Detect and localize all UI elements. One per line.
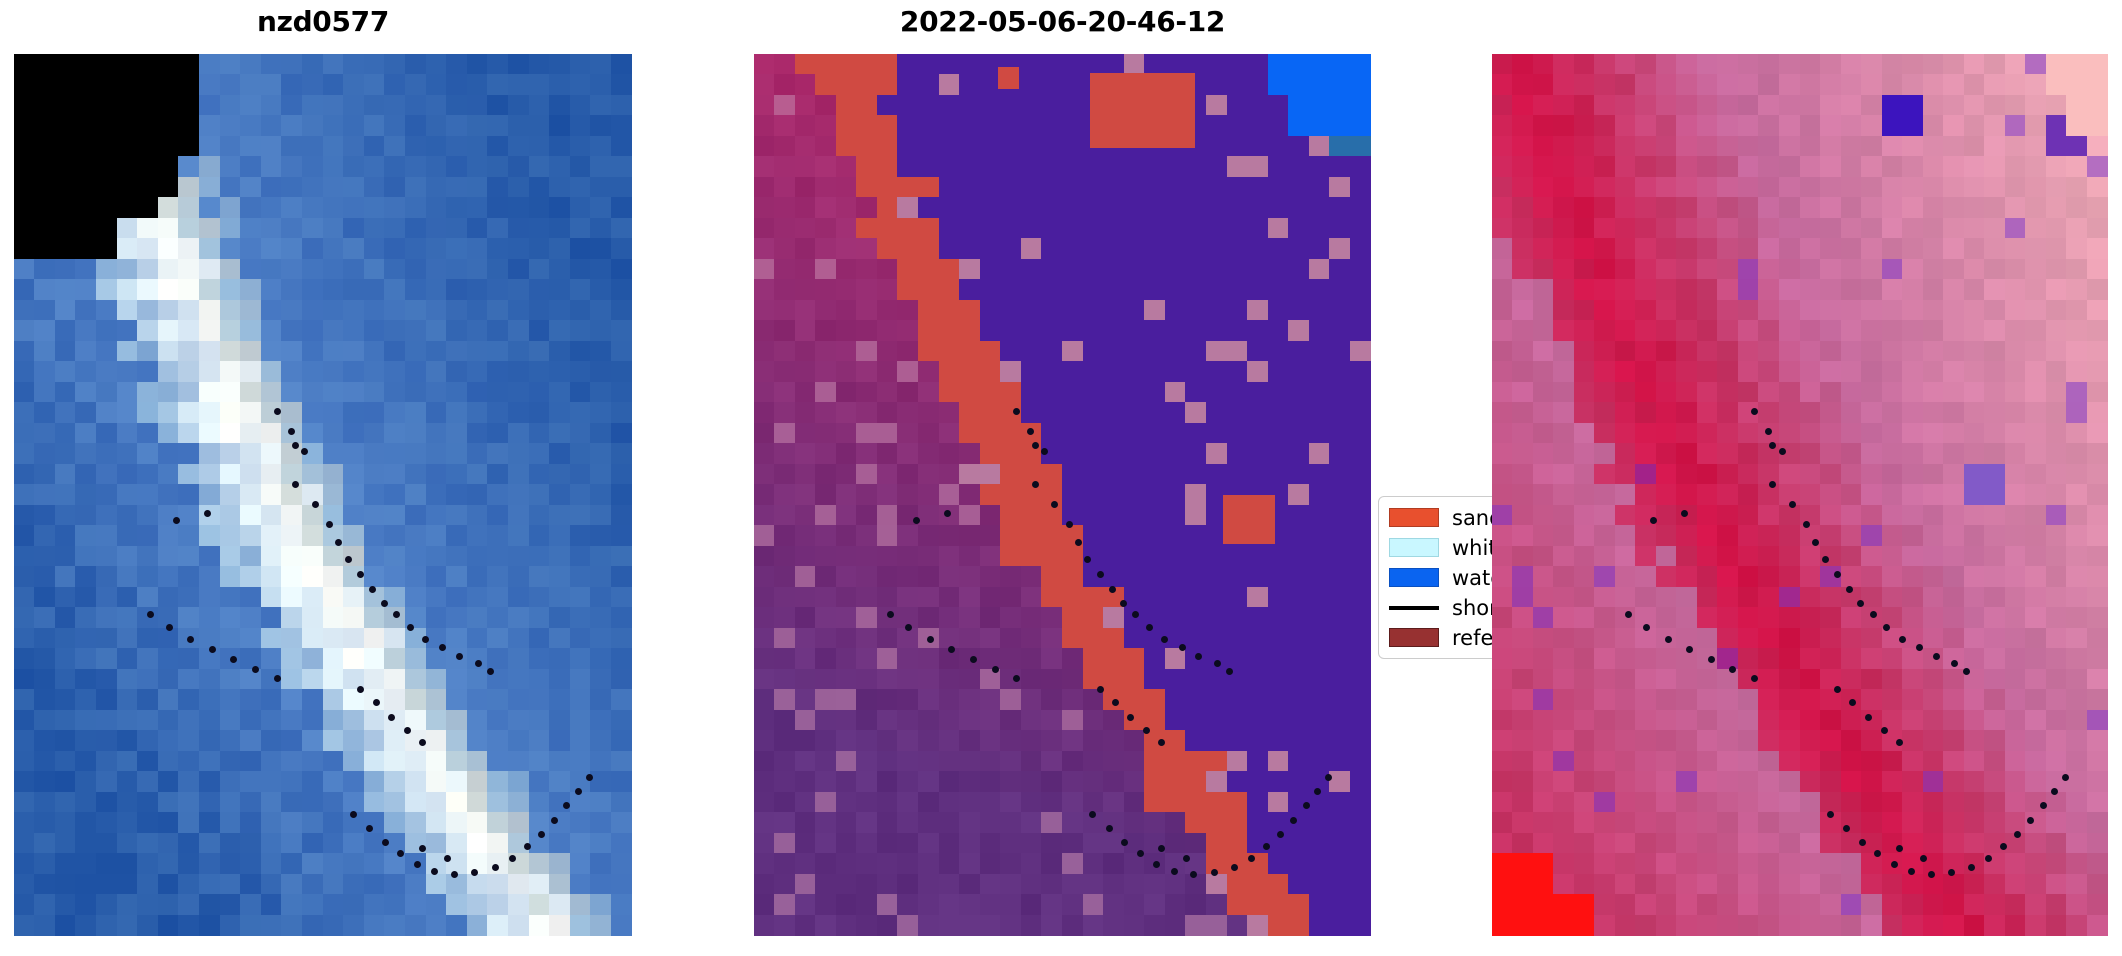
raster-cell [1574,279,1596,301]
raster-cell [856,833,878,855]
raster-cell [980,423,1002,445]
raster-cell [281,505,303,527]
raster-cell [323,95,345,117]
raster-cell [2087,177,2108,199]
raster-cell [1206,812,1228,834]
raster-cell [1656,484,1678,506]
raster-cell [158,566,180,588]
raster-cell [570,136,592,158]
raster-cell [918,894,940,916]
raster-cell [1676,382,1698,404]
raster-cell [1943,177,1965,199]
raster-cell [446,177,468,199]
raster-cell [2046,853,2068,875]
raster-cell [240,361,262,383]
raster-cell [1083,156,1105,178]
raster-cell [570,566,592,588]
raster-cell [96,874,118,896]
raster-cell [1268,156,1290,178]
raster-cell [1656,525,1678,547]
raster-cell [1206,587,1228,609]
raster-cell [590,587,612,609]
raster-cell [918,197,940,219]
raster-cell [1697,874,1719,896]
raster-cell [34,238,56,260]
raster-cell [939,915,961,936]
raster-cell [1902,341,1924,363]
raster-cell [1103,156,1125,178]
raster-cell [1964,730,1986,752]
raster-cell [1615,751,1637,773]
raster-cell [836,259,858,281]
raster-cell [178,136,200,158]
raster-cell [1329,402,1351,424]
raster-cell [795,443,817,465]
raster-cell [1350,751,1371,773]
raster-cell [897,74,919,96]
raster-cell [1512,689,1534,711]
raster-cell [343,361,365,383]
raster-cell [1820,279,1842,301]
raster-cell [590,546,612,568]
raster-cell [1268,853,1290,875]
raster-cell [1717,505,1739,527]
raster-cell [261,607,283,629]
raster-cell [959,341,981,363]
raster-cell [939,402,961,424]
raster-cell [1247,156,1269,178]
raster-cell [897,566,919,588]
raster-cell [1800,115,1822,137]
raster-cell [1041,361,1063,383]
raster-cell [2046,505,2068,527]
raster-cell [1861,915,1883,936]
raster-cell [1103,382,1125,404]
raster-cell [1062,648,1084,670]
raster-cell [529,279,551,301]
shoreline-dot [345,556,352,563]
raster-cell [1288,915,1310,936]
raster-cell [1964,300,1986,322]
raster-cell [1615,300,1637,322]
raster-cell [220,115,242,137]
raster-cell [2087,648,2108,670]
raster-cell [1329,218,1351,240]
raster-cell [754,587,776,609]
raster-cell [1964,464,1986,486]
raster-cell [405,279,427,301]
raster-cell [959,730,981,752]
raster-cell [508,443,530,465]
raster-cell [815,833,837,855]
raster-cell [1697,751,1719,773]
raster-cell [1124,423,1146,445]
raster-cell [815,771,837,793]
raster-cell [897,628,919,650]
raster-cell [1103,792,1125,814]
raster-cell [1820,197,1842,219]
raster-cell [158,710,180,732]
raster-cell [1984,730,2006,752]
raster-cell [1206,833,1228,855]
raster-cell [281,812,303,834]
raster-cell [1553,792,1575,814]
raster-cell [549,464,571,486]
raster-cell [508,771,530,793]
raster-cell [2046,443,2068,465]
raster-cell [158,238,180,260]
raster-cell [2087,812,2108,834]
raster-cell [2066,628,2088,650]
raster-cell [426,177,448,199]
raster-cell [158,136,180,158]
raster-cell [446,669,468,691]
raster-cell [1268,751,1290,773]
raster-cell [323,546,345,568]
raster-cell [1861,628,1883,650]
raster-cell [1309,648,1331,670]
raster-cell [836,382,858,404]
raster-cell [2066,177,2088,199]
raster-cell [487,443,509,465]
raster-cell [75,464,97,486]
raster-cell [1800,95,1822,117]
raster-cell [897,402,919,424]
raster-cell [570,279,592,301]
raster-cell [980,95,1002,117]
raster-cell [220,95,242,117]
raster-cell [1288,484,1310,506]
raster-cell [158,54,180,76]
raster-cell [570,628,592,650]
raster-cell [446,771,468,793]
raster-cell [1000,136,1022,158]
raster-cell [1533,156,1555,178]
raster-cell [281,238,303,260]
raster-cell [1738,648,1760,670]
raster-cell [815,115,837,137]
raster-cell [2046,300,2068,322]
raster-cell [1779,402,1801,424]
raster-cell [1964,853,1986,875]
raster-cell [137,751,159,773]
raster-cell [1964,136,1986,158]
raster-cell [918,177,940,199]
raster-cell [1553,259,1575,281]
raster-cell [1329,771,1351,793]
raster-cell [1656,771,1678,793]
raster-cell [795,279,817,301]
raster-cell [1717,915,1739,936]
raster-cell [75,689,97,711]
raster-cell [959,402,981,424]
raster-cell [1021,607,1043,629]
raster-cell [2005,341,2027,363]
raster-cell [323,792,345,814]
raster-cell [611,382,632,404]
raster-cell [1800,341,1822,363]
raster-cell [1676,525,1698,547]
raster-cell [1635,648,1657,670]
raster-cell [1247,300,1269,322]
raster-cell [426,238,448,260]
raster-cell [1717,361,1739,383]
raster-cell [1697,546,1719,568]
raster-cell [1964,607,1986,629]
raster-cell [877,771,899,793]
raster-cell [1964,505,1986,527]
raster-cell [1062,587,1084,609]
raster-cell [611,894,632,916]
raster-cell [446,812,468,834]
raster-cell [570,238,592,260]
raster-cell [384,710,406,732]
raster-cell [1738,197,1760,219]
raster-cell [323,751,345,773]
raster-cell [1041,402,1063,424]
raster-cell [1350,197,1371,219]
raster-cell [795,812,817,834]
raster-cell [1553,238,1575,260]
raster-cell [343,300,365,322]
raster-cell [1144,546,1166,568]
raster-cell [1841,710,1863,732]
raster-cell [939,115,961,137]
raster-cell [856,115,878,137]
raster-cell [2025,300,2047,322]
raster-cell [302,177,324,199]
raster-cell [199,689,221,711]
raster-cell [795,669,817,691]
raster-cell [1350,177,1371,199]
raster-cell [220,915,242,936]
raster-cell [261,689,283,711]
raster-cell [220,177,242,199]
raster-cell [754,792,776,814]
raster-cell [1902,136,1924,158]
raster-cell [1103,279,1125,301]
raster-cell [1492,484,1514,506]
raster-cell [1533,628,1555,650]
raster-cell [323,361,345,383]
raster-cell [2066,751,2088,773]
raster-cell [980,915,1002,936]
raster-cell [14,792,36,814]
raster-cell [815,484,837,506]
raster-cell [1512,402,1534,424]
raster-cell [1635,689,1657,711]
raster-cell [2005,238,2027,260]
raster-cell [2046,238,2068,260]
raster-cell [1083,587,1105,609]
raster-cell [1800,464,1822,486]
raster-cell [1758,197,1780,219]
raster-cell [1329,812,1351,834]
panel-classified-image[interactable] [754,54,1371,936]
raster-cell [426,300,448,322]
raster-cell [487,259,509,281]
raster-cell [590,320,612,342]
raster-cell [1615,54,1637,76]
raster-cell [795,525,817,547]
raster-cell [1635,423,1657,445]
raster-cell [1635,484,1657,506]
raster-cell [2046,669,2068,691]
raster-cell [611,648,632,670]
shoreline-dot [350,811,357,818]
raster-cell [446,894,468,916]
raster-cell [1041,874,1063,896]
raster-cell [1882,915,1904,936]
raster-cell [1309,751,1331,773]
raster-cell [384,156,406,178]
raster-cell [918,218,940,240]
raster-cell [384,197,406,219]
raster-cell [1635,894,1657,916]
raster-cell [1103,300,1125,322]
raster-cell [1247,136,1269,158]
raster-cell [1062,54,1084,76]
raster-cell [199,320,221,342]
raster-cell [220,259,242,281]
raster-cell [529,648,551,670]
raster-cell [1800,423,1822,445]
raster-cell [1779,730,1801,752]
raster-cell [754,669,776,691]
raster-cell [529,628,551,650]
raster-cell [897,710,919,732]
raster-cell [240,300,262,322]
raster-cell [1902,751,1924,773]
raster-cell [240,423,262,445]
raster-cell [343,320,365,342]
raster-cell [1861,74,1883,96]
raster-cell [1533,197,1555,219]
shoreline-dot [1158,845,1165,852]
raster-cell [1021,833,1043,855]
panel-l7-image[interactable] [1492,54,2108,936]
raster-cell [14,566,36,588]
raster-cell [1820,382,1842,404]
raster-cell [2005,54,2027,76]
raster-cell [897,136,919,158]
raster-cell [1676,915,1698,936]
raster-cell [856,587,878,609]
raster-cell [1144,197,1166,219]
raster-cell [508,751,530,773]
raster-cell [1738,259,1760,281]
raster-cell [1779,361,1801,383]
raster-cell [1553,54,1575,76]
raster-cell [1041,689,1063,711]
raster-cell [261,464,283,486]
raster-cell [1943,771,1965,793]
raster-cell [1861,259,1883,281]
raster-cell [1227,382,1249,404]
raster-cell [240,874,262,896]
raster-cell [1841,566,1863,588]
raster-cell [856,648,878,670]
raster-cell [1902,669,1924,691]
raster-cell [508,484,530,506]
raster-cell [1943,628,1965,650]
raster-cell [1635,54,1657,76]
raster-cell [1329,874,1351,896]
raster-cell [34,751,56,773]
raster-cell [1697,484,1719,506]
raster-cell [1103,259,1125,281]
raster-cell [137,341,159,363]
raster-cell [323,423,345,445]
raster-cell [1041,54,1063,76]
raster-cell [1738,607,1760,629]
raster-cell [281,361,303,383]
raster-cell [158,423,180,445]
raster-cell [1350,320,1371,342]
raster-cell [815,197,837,219]
raster-cell [55,505,77,527]
raster-cell [1492,197,1514,219]
raster-cell [570,156,592,178]
panel-rgb-image[interactable] [14,54,632,936]
raster-cell [384,218,406,240]
raster-cell [1268,894,1290,916]
raster-cell [178,833,200,855]
raster-cell [364,361,386,383]
raster-cell [1758,156,1780,178]
raster-cell [343,484,365,506]
raster-cell [1512,74,1534,96]
raster-cell [1738,628,1760,650]
raster-cell [137,361,159,383]
raster-cell [1800,853,1822,875]
raster-cell [1062,218,1084,240]
raster-cell [815,238,837,260]
raster-cell [446,730,468,752]
raster-cell [1717,464,1739,486]
raster-cell [1512,607,1534,629]
raster-cell [2046,197,2068,219]
raster-cell [1902,115,1924,137]
raster-cell [1062,361,1084,383]
raster-cell [1227,915,1249,936]
raster-cell [1676,546,1698,568]
raster-cell [1000,771,1022,793]
raster-cell [856,771,878,793]
raster-cell [1268,320,1290,342]
raster-cell [1574,730,1596,752]
raster-cell [1185,546,1207,568]
raster-cell [1144,484,1166,506]
raster-cell [611,587,632,609]
raster-cell [1984,259,2006,281]
raster-cell [1861,484,1883,506]
raster-cell [1758,894,1780,916]
raster-cell [343,607,365,629]
raster-cell [1492,218,1514,240]
raster-cell [1738,484,1760,506]
raster-cell [795,115,817,137]
raster-cell [261,874,283,896]
raster-cell [959,628,981,650]
raster-cell [199,853,221,875]
raster-cell [1717,279,1739,301]
raster-cell [549,894,571,916]
raster-cell [1656,874,1678,896]
raster-cell [220,484,242,506]
raster-cell [117,566,139,588]
raster-cell [1227,546,1249,568]
